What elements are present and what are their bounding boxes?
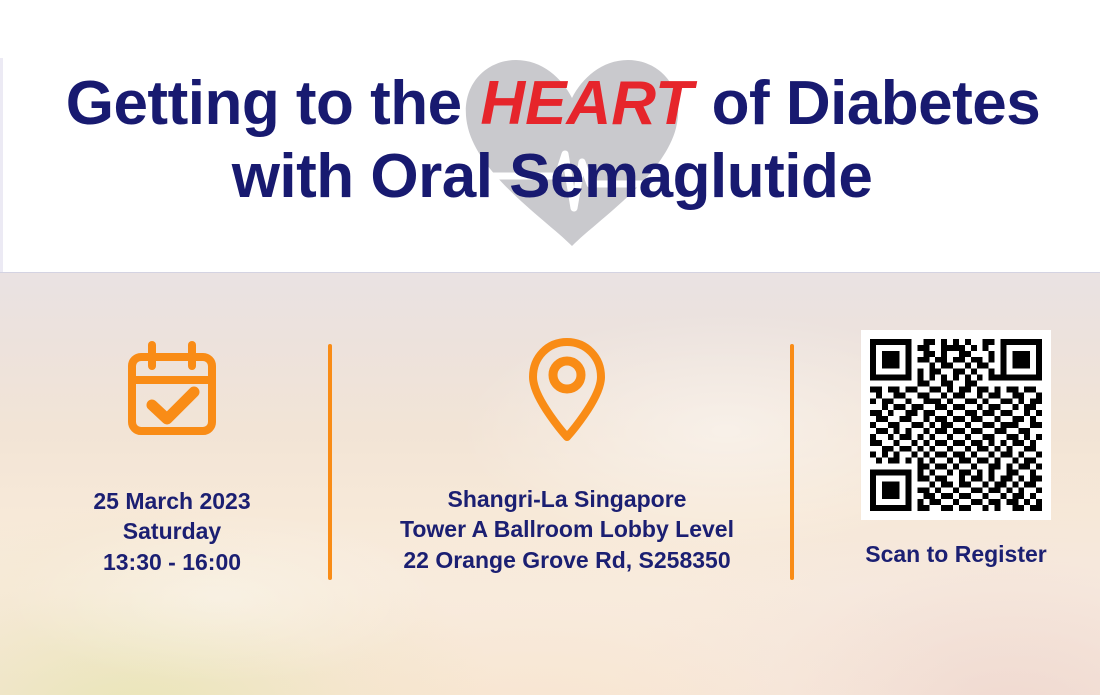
scan-to-register-label: Scan to Register xyxy=(826,541,1086,568)
divider-line-1 xyxy=(328,344,332,580)
location-text: Shangri-La Singapore Tower A Ballroom Lo… xyxy=(352,484,782,575)
date-line-1: 25 March 2023 xyxy=(28,486,316,516)
title-text-before: Getting to the xyxy=(66,69,462,138)
qr-code-icon[interactable] xyxy=(861,330,1051,520)
qr-code-canvas[interactable] xyxy=(870,339,1042,511)
event-banner: Getting to the HEART of Diabetes with Or… xyxy=(0,0,1100,695)
date-text: 25 March 2023 Saturday 13:30 - 16:00 xyxy=(28,486,316,577)
title-highlight-heart: HEART xyxy=(478,69,694,138)
location-column: Shangri-La Singapore Tower A Ballroom Lo… xyxy=(352,330,782,575)
registration-column: Scan to Register xyxy=(826,330,1086,568)
info-row: 25 March 2023 Saturday 13:30 - 16:00 Sha… xyxy=(0,330,1100,592)
title-line-2: with Oral Semaglutide xyxy=(0,147,1100,208)
title-line-1: Getting to the HEART of Diabetes xyxy=(0,74,1100,135)
page-title: Getting to the HEART of Diabetes with Or… xyxy=(0,74,1100,208)
date-line-3: 13:30 - 16:00 xyxy=(28,547,316,577)
location-line-3: 22 Orange Grove Rd, S258350 xyxy=(352,545,782,575)
title-text-after: of Diabetes xyxy=(712,69,1041,138)
calendar-check-icon xyxy=(28,330,316,448)
date-column: 25 March 2023 Saturday 13:30 - 16:00 xyxy=(28,330,316,577)
map-pin-icon xyxy=(352,330,782,448)
divider-line-2 xyxy=(790,344,794,580)
date-line-2: Saturday xyxy=(28,516,316,546)
location-line-2: Tower A Ballroom Lobby Level xyxy=(352,514,782,544)
location-line-1: Shangri-La Singapore xyxy=(352,484,782,514)
